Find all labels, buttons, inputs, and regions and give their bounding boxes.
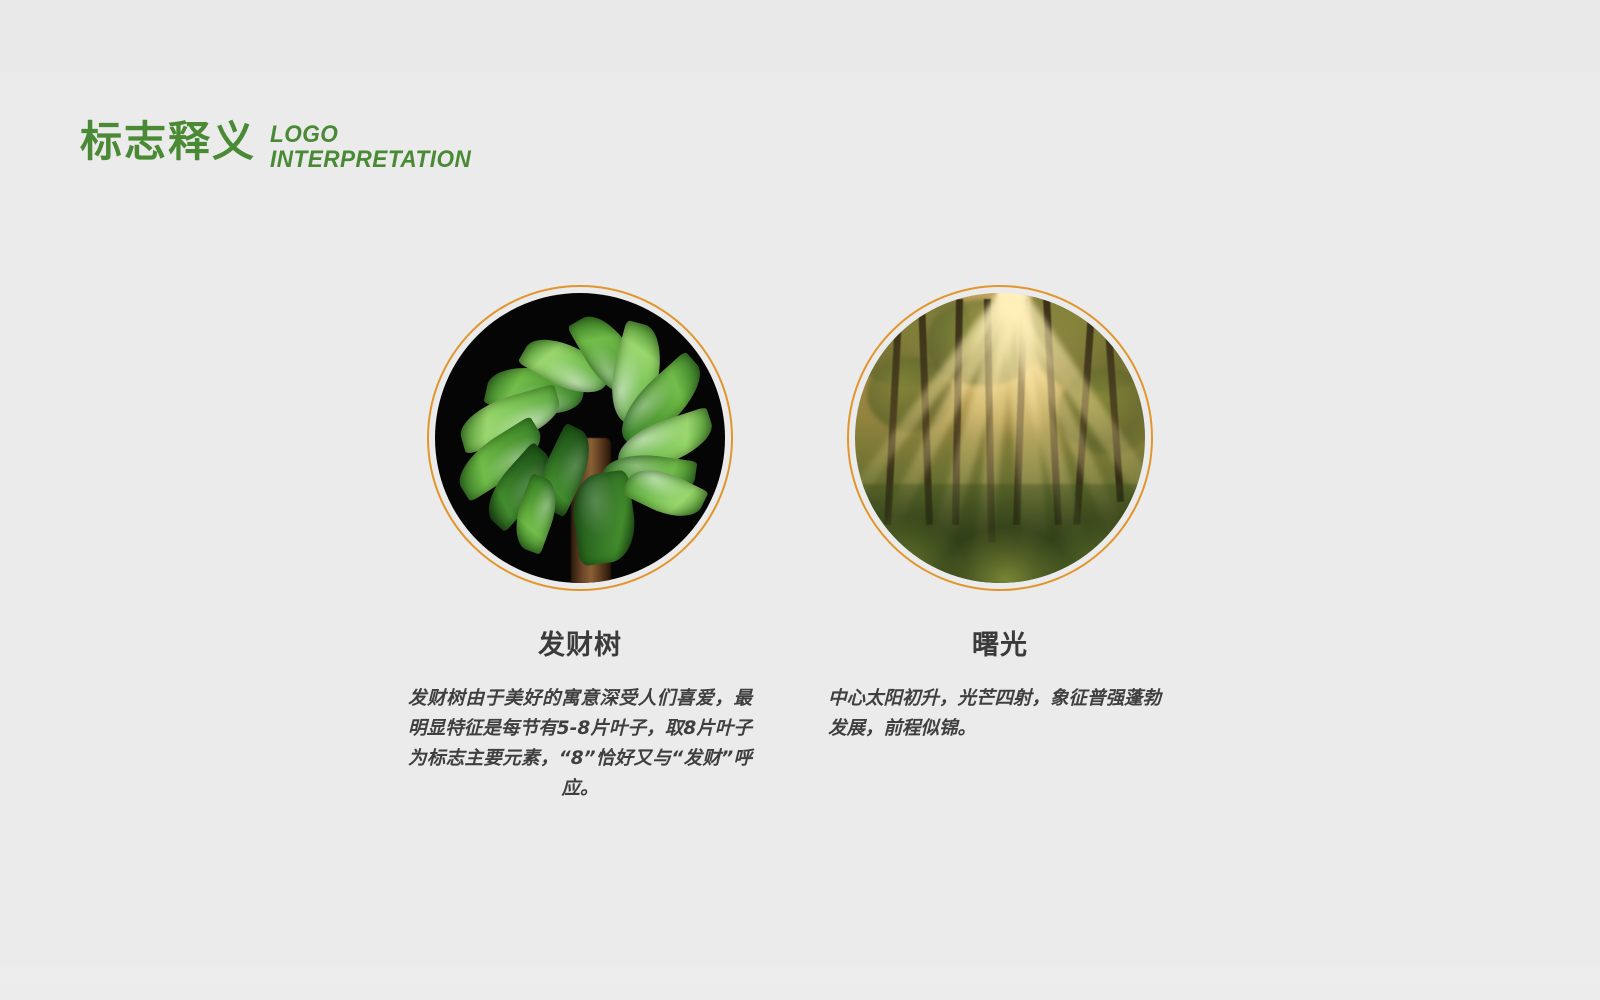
circle-frame-money-tree [427,285,733,591]
page-title-en-line2: INTERPRETATION [270,147,471,172]
card-title: 曙光 [820,623,1180,662]
forest-sunbeam-photo [855,293,1145,583]
money-tree-photo [435,293,725,583]
slide-canvas: 标志释义 LOGO INTERPRETATION [0,0,1600,1000]
card-body: 发财树由于美好的寓意深受人们喜爱，最明显特征是每节有5-8片叶子，取8片叶子为标… [400,684,760,804]
page-title-cn: 标志释义 [80,118,256,166]
card-dawn-light: 曙光 中心太阳初升，光芒四射，象征普强蓬勃发展，前程似锦。 [820,285,1180,744]
circle-frame-dawn-light [847,285,1153,591]
page-header: 标志释义 LOGO INTERPRETATION [80,118,484,172]
card-money-tree: 发财树 发财树由于美好的寓意深受人们喜爱，最明显特征是每节有5-8片叶子，取8片… [400,285,760,804]
page-title-en: LOGO INTERPRETATION [270,122,471,172]
card-title: 发财树 [400,623,760,662]
page-title-en-line1: LOGO [270,122,471,147]
card-body: 中心太阳初升，光芒四射，象征普强蓬勃发展，前程似锦。 [820,684,1180,744]
